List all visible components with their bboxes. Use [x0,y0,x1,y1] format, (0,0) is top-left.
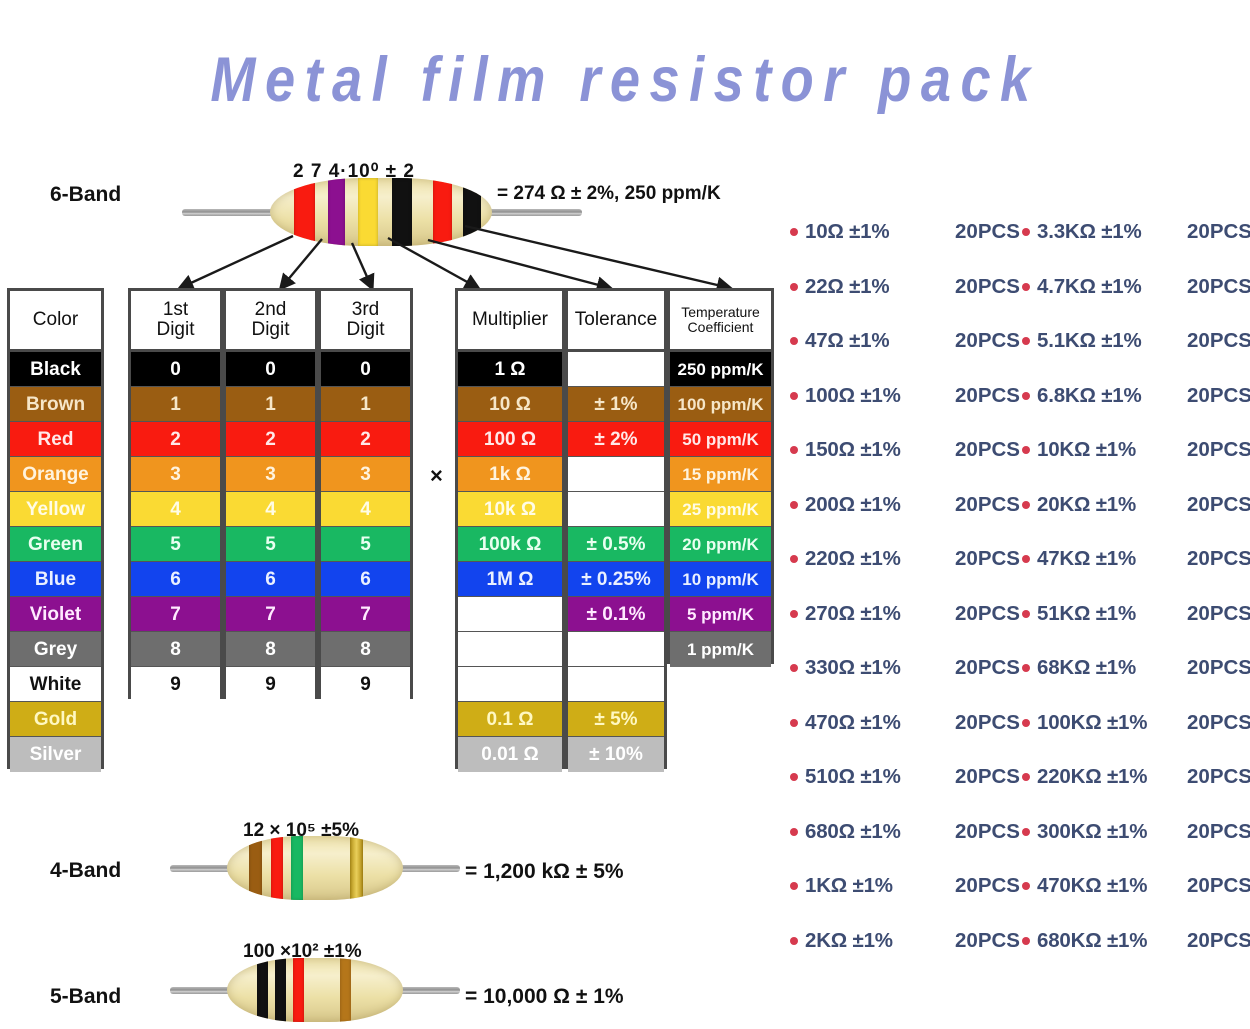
table-cell-digit2-orange: 3 [226,457,315,492]
table-cell-tolerance-blue: ± 0.25% [568,562,664,597]
bullet-icon [1022,555,1030,563]
resistor-quantity: 20PCS [945,547,1020,571]
band-1 [249,836,262,900]
table-cell-digit2-violet: 7 [226,597,315,632]
bullet-icon [1022,664,1030,672]
bullet-icon [1022,228,1030,236]
table-cell-multiplier-blue: 1M Ω [458,562,562,597]
table-cell-tempco-green: 20 ppm/K [670,527,771,562]
resistor-quantity: 20PCS [1177,929,1250,953]
six-band-resistor [182,178,582,246]
resistor-quantity: 20PCS [1177,220,1250,244]
bullet-icon [790,610,798,618]
resistor-value: 22Ω ±1% [805,275,889,299]
list-item: 150Ω ±1%20PCS [790,423,1020,478]
list-item: 1KΩ ±1%20PCS [790,859,1020,914]
bullet-icon [790,773,798,781]
table-cell-tempco-black: 250 ppm/K [670,352,771,387]
band-3 [291,836,303,900]
temperature-coefficient-cells: 250 ppm/K100 ppm/K50 ppm/K15 ppm/K25 ppm… [670,352,771,667]
resistor-quantity: 20PCS [1177,874,1250,898]
digit-1-cells: 0123456789 [131,352,220,702]
band-3 [358,178,378,246]
resistor-value: 510Ω ±1% [805,765,901,789]
bullet-icon [1022,501,1030,509]
column-header-tolerance: Tolerance [568,291,664,352]
list-item: 220KΩ ±1%20PCS [1022,750,1250,805]
table-cell-multiplier-yellow: 10k Ω [458,492,562,527]
table-cell-digit2-white: 9 [226,667,315,702]
resistor-value: 20KΩ ±1% [1037,493,1136,517]
bullet-icon [790,664,798,672]
table-cell-digit2-black: 0 [226,352,315,387]
table-cell-color-grey: Grey [10,632,101,667]
bullet-icon [1022,882,1030,890]
resistor-lead-right [477,209,582,216]
table-cell-digit3-orange: 3 [321,457,410,492]
bullet-icon [1022,392,1030,400]
resistor-quantity: 20PCS [1177,384,1250,408]
color-name-cells: BlackBrownRedOrangeYellowGreenBlueViolet… [10,352,101,772]
resistor-quantity: 20PCS [1177,711,1250,735]
resistor-value: 470Ω ±1% [805,711,901,735]
column-tolerance: Tolerance ± 1%± 2%± 0.5%± 0.25%± 0.1%± 5… [565,288,667,769]
infographic-canvas: Metal film resistor pack 6-Band 2 7 4·10… [0,0,1250,1029]
table-cell-tolerance-orange [568,457,664,492]
resistor-value: 150Ω ±1% [805,438,901,462]
list-item: 470Ω ±1%20PCS [790,696,1020,751]
resistor-value: 220Ω ±1% [805,547,901,571]
resistor-body [270,178,492,246]
table-cell-digit1-black: 0 [131,352,220,387]
resistor-quantity: 20PCS [1177,765,1250,789]
resistor-value: 47Ω ±1% [805,329,889,353]
band-5 [433,178,452,246]
resistor-value: 68KΩ ±1% [1037,656,1136,680]
resistor-quantity: 20PCS [1177,656,1250,680]
table-cell-digit1-red: 2 [131,422,220,457]
table-cell-multiplier-white [458,667,562,702]
band-6 [463,178,481,246]
six-band-label: 6-Band [50,183,121,207]
table-cell-color-gold: Gold [10,702,101,737]
list-item: 5.1KΩ ±1%20PCS [1022,314,1250,369]
table-cell-tolerance-green: ± 0.5% [568,527,664,562]
table-cell-digit1-yellow: 4 [131,492,220,527]
four-band-resistor [170,836,460,900]
table-cell-tempco-orange: 15 ppm/K [670,457,771,492]
table-cell-digit3-black: 0 [321,352,410,387]
resistor-value: 330Ω ±1% [805,656,901,680]
table-cell-color-red: Red [10,422,101,457]
resistor-quantity: 20PCS [945,874,1020,898]
resistor-quantity: 20PCS [945,275,1020,299]
resistor-body [227,836,403,900]
table-cell-tolerance-yellow [568,492,664,527]
bullet-icon [790,882,798,890]
table-cell-digit3-violet: 7 [321,597,410,632]
table-cell-multiplier-violet [458,597,562,632]
five-band-label: 5-Band [50,985,121,1009]
table-cell-digit2-blue: 6 [226,562,315,597]
resistor-quantity: 20PCS [1177,275,1250,299]
resistor-value: 680KΩ ±1% [1037,929,1147,953]
column-digit-1: 1st Digit 0123456789 [128,288,223,699]
resistor-value-list: 10Ω ±1%20PCS22Ω ±1%20PCS47Ω ±1%20PCS100Ω… [790,205,1250,925]
table-cell-digit2-brown: 1 [226,387,315,422]
table-cell-multiplier-orange: 1k Ω [458,457,562,492]
column-color: Color BlackBrownRedOrangeYellowGreenBlue… [7,288,104,769]
column-digit-3: 3rd Digit 0123456789 [318,288,413,699]
resistor-quantity: 20PCS [1177,547,1250,571]
list-item: 220Ω ±1%20PCS [790,532,1020,587]
bullet-icon [790,828,798,836]
table-cell-tempco-violet: 5 ppm/K [670,597,771,632]
resistor-value: 220KΩ ±1% [1037,765,1147,789]
resistor-quantity: 20PCS [945,820,1020,844]
table-cell-tempco-blue: 10 ppm/K [670,562,771,597]
resistor-quantity: 20PCS [1177,329,1250,353]
table-cell-digit2-green: 5 [226,527,315,562]
bullet-icon [790,501,798,509]
resistor-quantity: 20PCS [1177,438,1250,462]
resistor-value: 2KΩ ±1% [805,929,893,953]
table-cell-multiplier-brown: 10 Ω [458,387,562,422]
resistor-quantity: 20PCS [1177,820,1250,844]
table-cell-tolerance-grey [568,632,664,667]
bullet-icon [790,719,798,727]
table-cell-tolerance-silver: ± 10% [568,737,664,772]
bullet-icon [790,937,798,945]
bullet-icon [1022,446,1030,454]
list-item: 20KΩ ±1%20PCS [1022,478,1250,533]
resistor-body [227,958,403,1022]
five-band-resistor [170,958,460,1022]
list-item: 680KΩ ±1%20PCS [1022,914,1250,969]
resistor-value: 6.8KΩ ±1% [1037,384,1142,408]
resistor-quantity: 20PCS [945,384,1020,408]
list-item: 3.3KΩ ±1%20PCS [1022,205,1250,260]
table-cell-tolerance-black [568,352,664,387]
list-item: 4.7KΩ ±1%20PCS [1022,260,1250,315]
table-cell-tempco-grey: 1 ppm/K [670,632,771,667]
resistor-quantity: 20PCS [945,329,1020,353]
table-cell-color-white: White [10,667,101,702]
table-cell-color-brown: Brown [10,387,101,422]
table-cell-multiplier-gold: 0.1 Ω [458,702,562,737]
list-item: 300KΩ ±1%20PCS [1022,805,1250,860]
table-cell-multiplier-silver: 0.01 Ω [458,737,562,772]
list-item: 6.8KΩ ±1%20PCS [1022,369,1250,424]
bullet-icon [1022,828,1030,836]
bullet-icon [1022,610,1030,618]
table-cell-multiplier-red: 100 Ω [458,422,562,457]
table-cell-digit2-grey: 8 [226,632,315,667]
spec-column-right: 3.3KΩ ±1%20PCS4.7KΩ ±1%20PCS5.1KΩ ±1%20P… [1022,205,1250,968]
table-cell-color-silver: Silver [10,737,101,772]
resistor-quantity: 20PCS [945,438,1020,462]
band-4 [350,836,363,900]
table-cell-digit1-green: 5 [131,527,220,562]
resistor-value: 470KΩ ±1% [1037,874,1147,898]
multiply-symbol: × [430,463,443,489]
column-header-temperature-coefficient: Temperature Coefficient [670,291,771,352]
table-cell-multiplier-grey [458,632,562,667]
list-item: 10KΩ ±1%20PCS [1022,423,1250,478]
list-item: 10Ω ±1%20PCS [790,205,1020,260]
list-item: 22Ω ±1%20PCS [790,260,1020,315]
table-cell-digit1-blue: 6 [131,562,220,597]
table-cell-digit3-brown: 1 [321,387,410,422]
column-header-multiplier: Multiplier [458,291,562,352]
table-cell-digit3-yellow: 4 [321,492,410,527]
list-item: 200Ω ±1%20PCS [790,478,1020,533]
resistor-value: 680Ω ±1% [805,820,901,844]
resistor-quantity: 20PCS [945,220,1020,244]
band-2 [275,958,286,1022]
resistor-value: 100Ω ±1% [805,384,901,408]
table-cell-digit3-blue: 6 [321,562,410,597]
list-item: 330Ω ±1%20PCS [790,641,1020,696]
resistor-value: 47KΩ ±1% [1037,547,1136,571]
multiplier-cells: 1 Ω10 Ω100 Ω1k Ω10k Ω100k Ω1M Ω0.1 Ω0.01… [458,352,562,772]
column-temperature-coefficient: Temperature Coefficient 250 ppm/K100 ppm… [667,288,774,664]
list-item: 47KΩ ±1%20PCS [1022,532,1250,587]
resistor-value: 1KΩ ±1% [805,874,893,898]
resistor-quantity: 20PCS [945,711,1020,735]
column-header-digit-3: 3rd Digit [321,291,410,352]
table-cell-digit2-red: 2 [226,422,315,457]
resistor-quantity: 20PCS [1177,602,1250,626]
table-cell-tempco-red: 50 ppm/K [670,422,771,457]
column-header-color: Color [10,291,101,352]
table-cell-tolerance-gold: ± 5% [568,702,664,737]
bullet-icon [1022,773,1030,781]
resistor-value: 51KΩ ±1% [1037,602,1136,626]
list-item: 100Ω ±1%20PCS [790,369,1020,424]
bullet-icon [790,555,798,563]
resistor-value: 3.3KΩ ±1% [1037,220,1142,244]
table-cell-color-violet: Violet [10,597,101,632]
band-1 [257,958,268,1022]
table-cell-tolerance-red: ± 2% [568,422,664,457]
bullet-icon [790,446,798,454]
list-item: 510Ω ±1%20PCS [790,750,1020,805]
table-cell-color-green: Green [10,527,101,562]
bullet-icon [790,283,798,291]
resistor-value: 10KΩ ±1% [1037,438,1136,462]
resistor-quantity: 20PCS [945,656,1020,680]
table-cell-multiplier-green: 100k Ω [458,527,562,562]
resistor-value: 4.7KΩ ±1% [1037,275,1142,299]
resistor-quantity: 20PCS [945,493,1020,517]
list-item: 51KΩ ±1%20PCS [1022,587,1250,642]
resistor-quantity: 20PCS [945,765,1020,789]
table-cell-digit1-grey: 8 [131,632,220,667]
bullet-icon [790,337,798,345]
table-cell-color-orange: Orange [10,457,101,492]
table-cell-tolerance-brown: ± 1% [568,387,664,422]
column-multiplier: Multiplier 1 Ω10 Ω100 Ω1k Ω10k Ω100k Ω1M… [455,288,565,769]
resistor-value: 10Ω ±1% [805,220,889,244]
spec-column-left: 10Ω ±1%20PCS22Ω ±1%20PCS47Ω ±1%20PCS100Ω… [790,205,1020,968]
resistor-quantity: 20PCS [1177,493,1250,517]
table-cell-tolerance-violet: ± 0.1% [568,597,664,632]
five-band-result: = 10,000 Ω ± 1% [465,985,624,1009]
table-cell-tempco-yellow: 25 ppm/K [670,492,771,527]
bullet-icon [790,392,798,400]
column-header-digit-1: 1st Digit [131,291,220,352]
band-4 [392,178,412,246]
table-cell-multiplier-black: 1 Ω [458,352,562,387]
band-4 [340,958,351,1022]
bullet-icon [790,228,798,236]
digit-3-cells: 0123456789 [321,352,410,702]
four-band-label: 4-Band [50,859,121,883]
column-digit-2: 2nd Digit 0123456789 [223,288,318,699]
table-cell-color-black: Black [10,352,101,387]
list-item: 68KΩ ±1%20PCS [1022,641,1250,696]
tolerance-cells: ± 1%± 2%± 0.5%± 0.25%± 0.1%± 5%± 10% [568,352,664,772]
list-item: 680Ω ±1%20PCS [790,805,1020,860]
band-3 [293,958,304,1022]
four-band-result: = 1,200 kΩ ± 5% [465,860,624,884]
resistor-value: 270Ω ±1% [805,602,901,626]
bullet-icon [1022,283,1030,291]
table-cell-digit3-grey: 8 [321,632,410,667]
page-title: Metal film resistor pack [88,44,1163,116]
resistor-color-code-table: Color BlackBrownRedOrangeYellowGreenBlue… [0,288,780,788]
resistor-value: 200Ω ±1% [805,493,901,517]
bullet-icon [1022,937,1030,945]
table-cell-digit1-white: 9 [131,667,220,702]
bullet-icon [1022,719,1030,727]
table-cell-tolerance-white [568,667,664,702]
table-cell-digit1-orange: 3 [131,457,220,492]
resistor-quantity: 20PCS [945,602,1020,626]
table-cell-digit1-brown: 1 [131,387,220,422]
table-cell-digit3-white: 9 [321,667,410,702]
table-cell-digit3-green: 5 [321,527,410,562]
bullet-icon [1022,337,1030,345]
table-cell-digit3-red: 2 [321,422,410,457]
resistor-quantity: 20PCS [945,929,1020,953]
list-item: 2KΩ ±1%20PCS [790,914,1020,969]
band-2 [328,178,345,246]
list-item: 47Ω ±1%20PCS [790,314,1020,369]
table-cell-tempco-brown: 100 ppm/K [670,387,771,422]
digit-2-cells: 0123456789 [226,352,315,702]
list-item: 100KΩ ±1%20PCS [1022,696,1250,751]
resistor-value: 100KΩ ±1% [1037,711,1147,735]
table-cell-digit2-yellow: 4 [226,492,315,527]
list-item: 470KΩ ±1%20PCS [1022,859,1250,914]
resistor-value: 300KΩ ±1% [1037,820,1147,844]
resistor-value: 5.1KΩ ±1% [1037,329,1142,353]
column-header-digit-2: 2nd Digit [226,291,315,352]
list-item: 270Ω ±1%20PCS [790,587,1020,642]
table-cell-color-yellow: Yellow [10,492,101,527]
table-cell-color-blue: Blue [10,562,101,597]
table-cell-digit1-violet: 7 [131,597,220,632]
band-1 [294,178,315,246]
band-2 [271,836,283,900]
